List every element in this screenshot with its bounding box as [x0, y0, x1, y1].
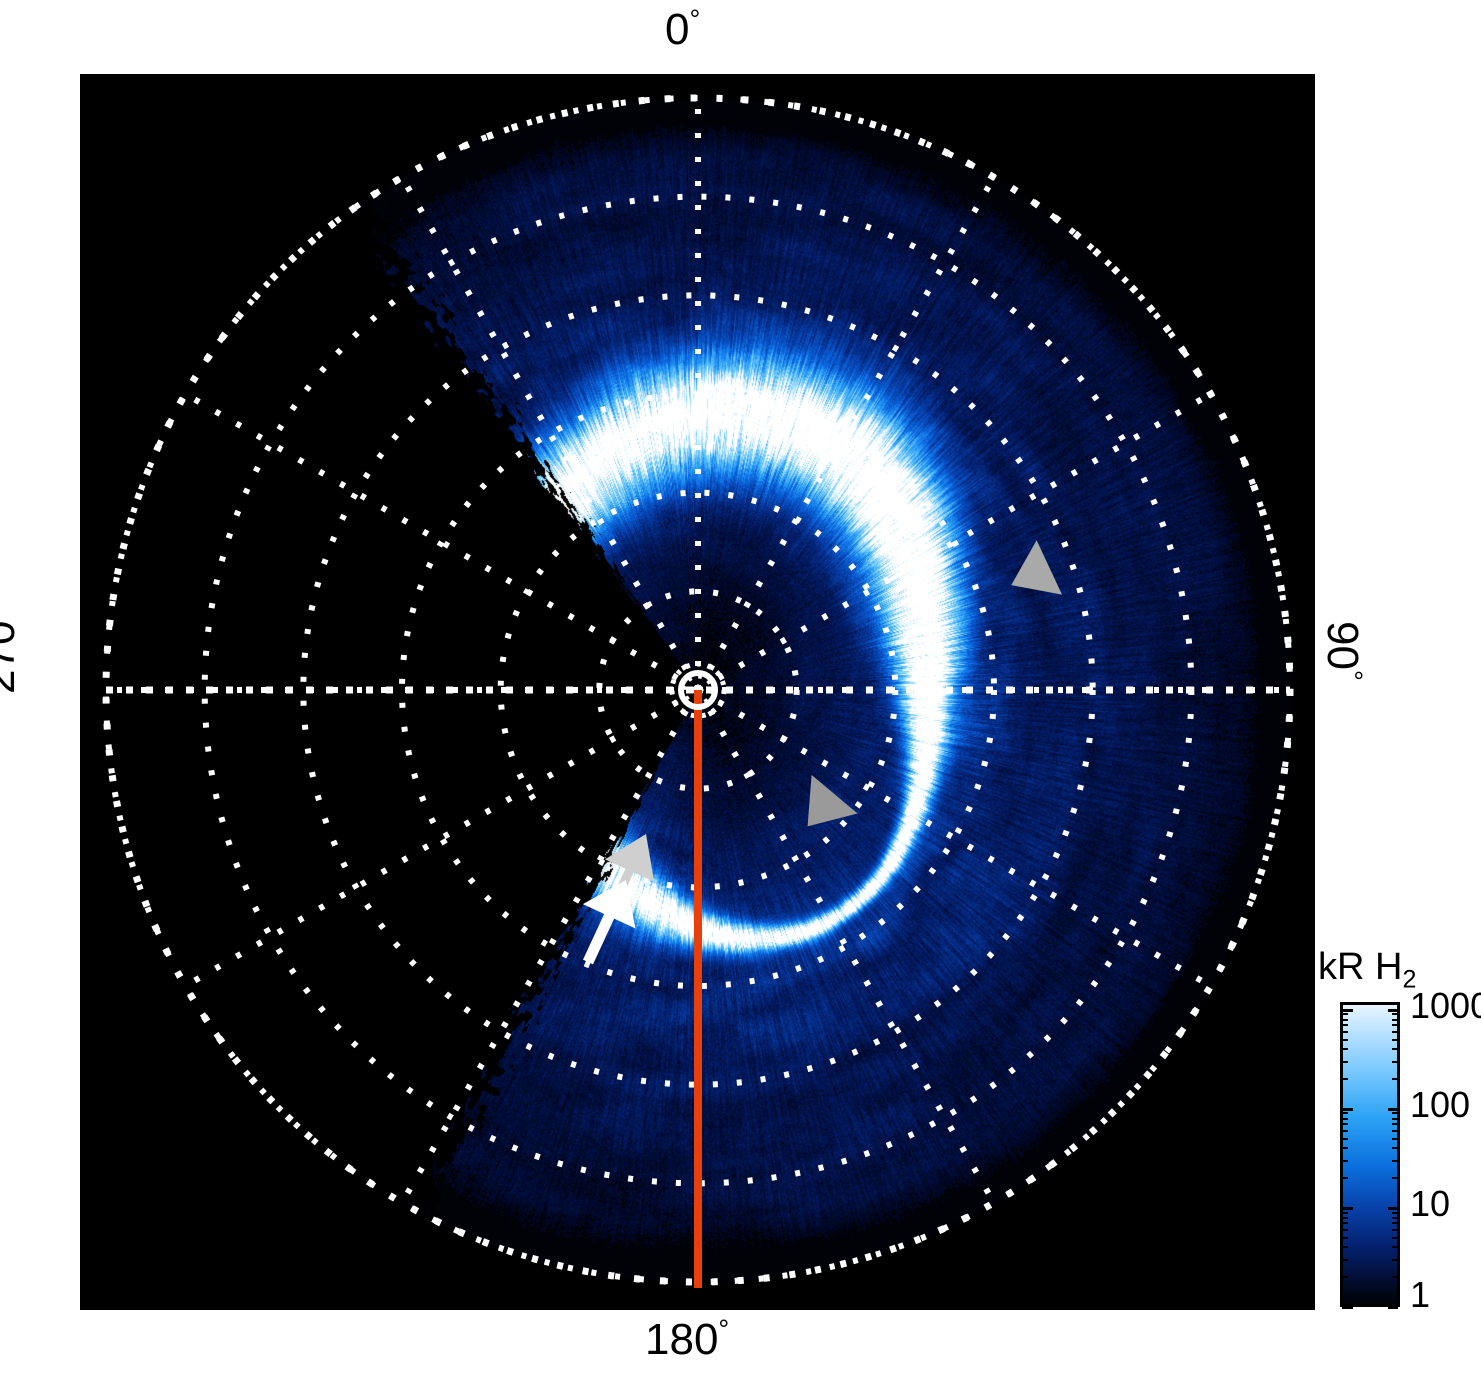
angular-label-180: 180° [645, 1318, 729, 1362]
colorbar-minor-tick [1342, 1229, 1348, 1231]
colorbar-label-1: 1 [1410, 1277, 1430, 1313]
colorbar-minor-tick [1342, 1078, 1348, 1080]
colorbar-minor-tick [1392, 1039, 1398, 1041]
auroral-emission-image [80, 74, 1315, 1310]
colorbar-minor-tick [1342, 1123, 1348, 1125]
colorbar-major-tick [1342, 1009, 1353, 1012]
colorbar-minor-tick [1342, 1177, 1348, 1179]
colorbar-minor-tick [1392, 1259, 1398, 1261]
colorbar-minor-tick [1342, 1259, 1348, 1261]
colorbar-minor-tick [1392, 1138, 1398, 1140]
colorbar-minor-tick [1392, 1217, 1398, 1219]
colorbar-title: kR H2 [1318, 946, 1416, 989]
colorbar-minor-tick [1392, 1019, 1398, 1021]
colorbar-minor-tick [1342, 1237, 1348, 1239]
colorbar-minor-tick [1342, 1130, 1348, 1132]
colorbar-minor-tick [1392, 1160, 1398, 1162]
colorbar-minor-tick [1342, 1061, 1348, 1063]
colorbar-minor-tick [1342, 1160, 1348, 1162]
colorbar-minor-tick [1392, 1078, 1398, 1080]
colorbar-major-tick [1388, 1306, 1398, 1309]
colorbar-minor-tick [1392, 1147, 1398, 1149]
colorbar-minor-tick [1392, 1112, 1398, 1114]
colorbar-minor-tick [1392, 1276, 1398, 1278]
colorbar-minor-tick [1392, 1130, 1398, 1132]
colorbar-major-tick [1342, 1108, 1353, 1111]
colorbar-minor-tick [1392, 1061, 1398, 1063]
colorbar-minor-tick [1392, 1123, 1398, 1125]
colorbar-label-10: 10 [1410, 1186, 1450, 1222]
figure-root: 0° 180° 270° 90° kR H2 1000 100 10 1 [0, 0, 1481, 1384]
colorbar-minor-tick [1342, 1147, 1348, 1149]
angular-label-270: 270° [0, 610, 22, 694]
angular-label-0: 0° [665, 8, 700, 52]
colorbar-minor-tick [1342, 1048, 1348, 1050]
colorbar-minor-tick [1342, 1212, 1348, 1214]
colorbar-major-tick [1342, 1306, 1353, 1309]
colorbar-label-1000: 1000 [1410, 988, 1481, 1024]
colorbar-minor-tick [1392, 1118, 1398, 1120]
colorbar-minor-tick [1392, 1222, 1398, 1224]
colorbar-minor-tick [1392, 1013, 1398, 1015]
colorbar-minor-tick [1392, 1024, 1398, 1026]
angular-label-90: 90° [1320, 621, 1364, 681]
colorbar-minor-tick [1342, 1024, 1348, 1026]
colorbar-minor-tick [1392, 1246, 1398, 1248]
colorbar-minor-tick [1392, 1031, 1398, 1033]
colorbar-minor-tick [1342, 1222, 1348, 1224]
colorbar-gradient [1340, 1002, 1400, 1307]
colorbar-minor-tick [1342, 1246, 1348, 1248]
colorbar-minor-tick [1392, 1048, 1398, 1050]
colorbar-minor-tick [1392, 1177, 1398, 1179]
colorbar-minor-tick [1392, 1229, 1398, 1231]
colorbar-minor-tick [1342, 1276, 1348, 1278]
polar-plot-panel [80, 74, 1315, 1310]
colorbar-minor-tick [1342, 1217, 1348, 1219]
colorbar-minor-tick [1342, 1138, 1348, 1140]
colorbar-major-tick [1388, 1207, 1398, 1210]
colorbar-minor-tick [1342, 1112, 1348, 1114]
colorbar-major-tick [1388, 1108, 1398, 1111]
colorbar-minor-tick [1342, 1013, 1348, 1015]
colorbar-minor-tick [1342, 1019, 1348, 1021]
colorbar-minor-tick [1392, 1237, 1398, 1239]
colorbar-minor-tick [1342, 1039, 1348, 1041]
colorbar-major-tick [1388, 1009, 1398, 1012]
colorbar-label-100: 100 [1410, 1087, 1470, 1123]
colorbar-major-tick [1342, 1207, 1353, 1210]
colorbar-minor-tick [1342, 1118, 1348, 1120]
colorbar-minor-tick [1342, 1031, 1348, 1033]
colorbar-minor-tick [1392, 1212, 1398, 1214]
